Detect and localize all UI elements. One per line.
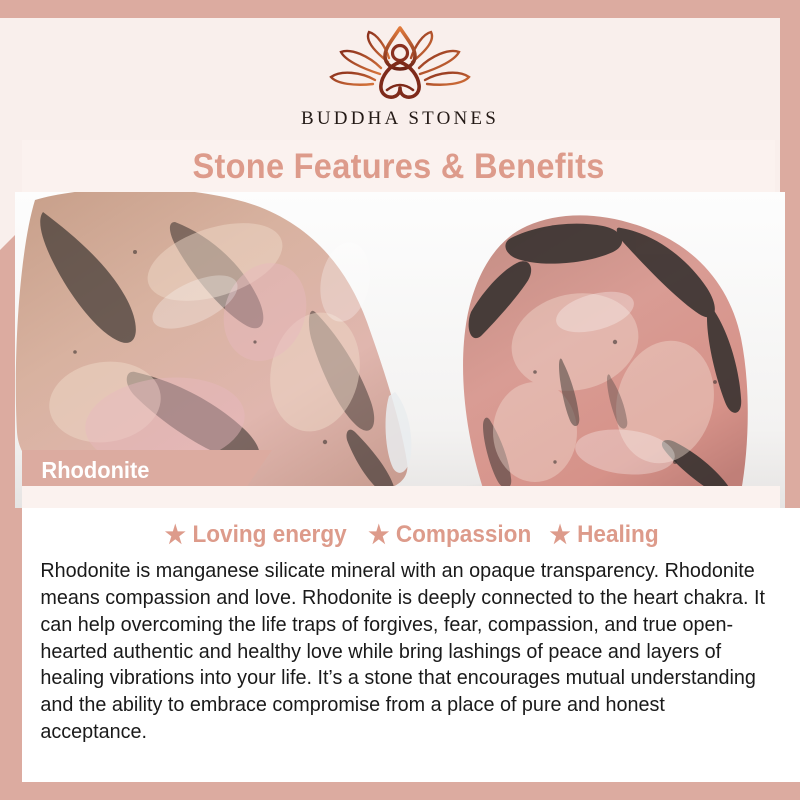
benefit-item: ★ Loving energy [165, 521, 347, 549]
benefit-label: Compassion [396, 521, 531, 549]
stone-name-label: Rhodonite [22, 450, 272, 490]
benefit-item: ★ Healing [550, 521, 659, 549]
page-title: Stone Features & Benefits [192, 147, 604, 187]
stone-description: Rhodonite is manganese silicate mineral … [22, 549, 792, 746]
benefit-label: Healing [578, 521, 659, 549]
benefit-item: ★ Compassion [368, 521, 531, 549]
star-icon: ★ [368, 523, 389, 548]
frame-band-bottom [0, 782, 800, 800]
frame-band-top [0, 0, 800, 18]
star-icon: ★ [165, 523, 186, 548]
star-icon: ★ [550, 523, 571, 548]
brand-logo: BUDDHA STONES [0, 22, 800, 140]
benefits-row: ★ Loving energy ★ Compassion ★ Healing [22, 508, 800, 549]
panel-top-strip [22, 486, 780, 508]
title-banner: Stone Features & Benefits [22, 140, 775, 193]
brand-name: BUDDHA STONES [301, 108, 499, 130]
stone-name-text: Rhodonite [25, 457, 149, 484]
benefit-label: Loving energy [193, 521, 347, 549]
content-panel: ★ Loving energy ★ Compassion ★ Healing R… [22, 508, 800, 782]
lotus-meditation-icon [325, 22, 475, 104]
